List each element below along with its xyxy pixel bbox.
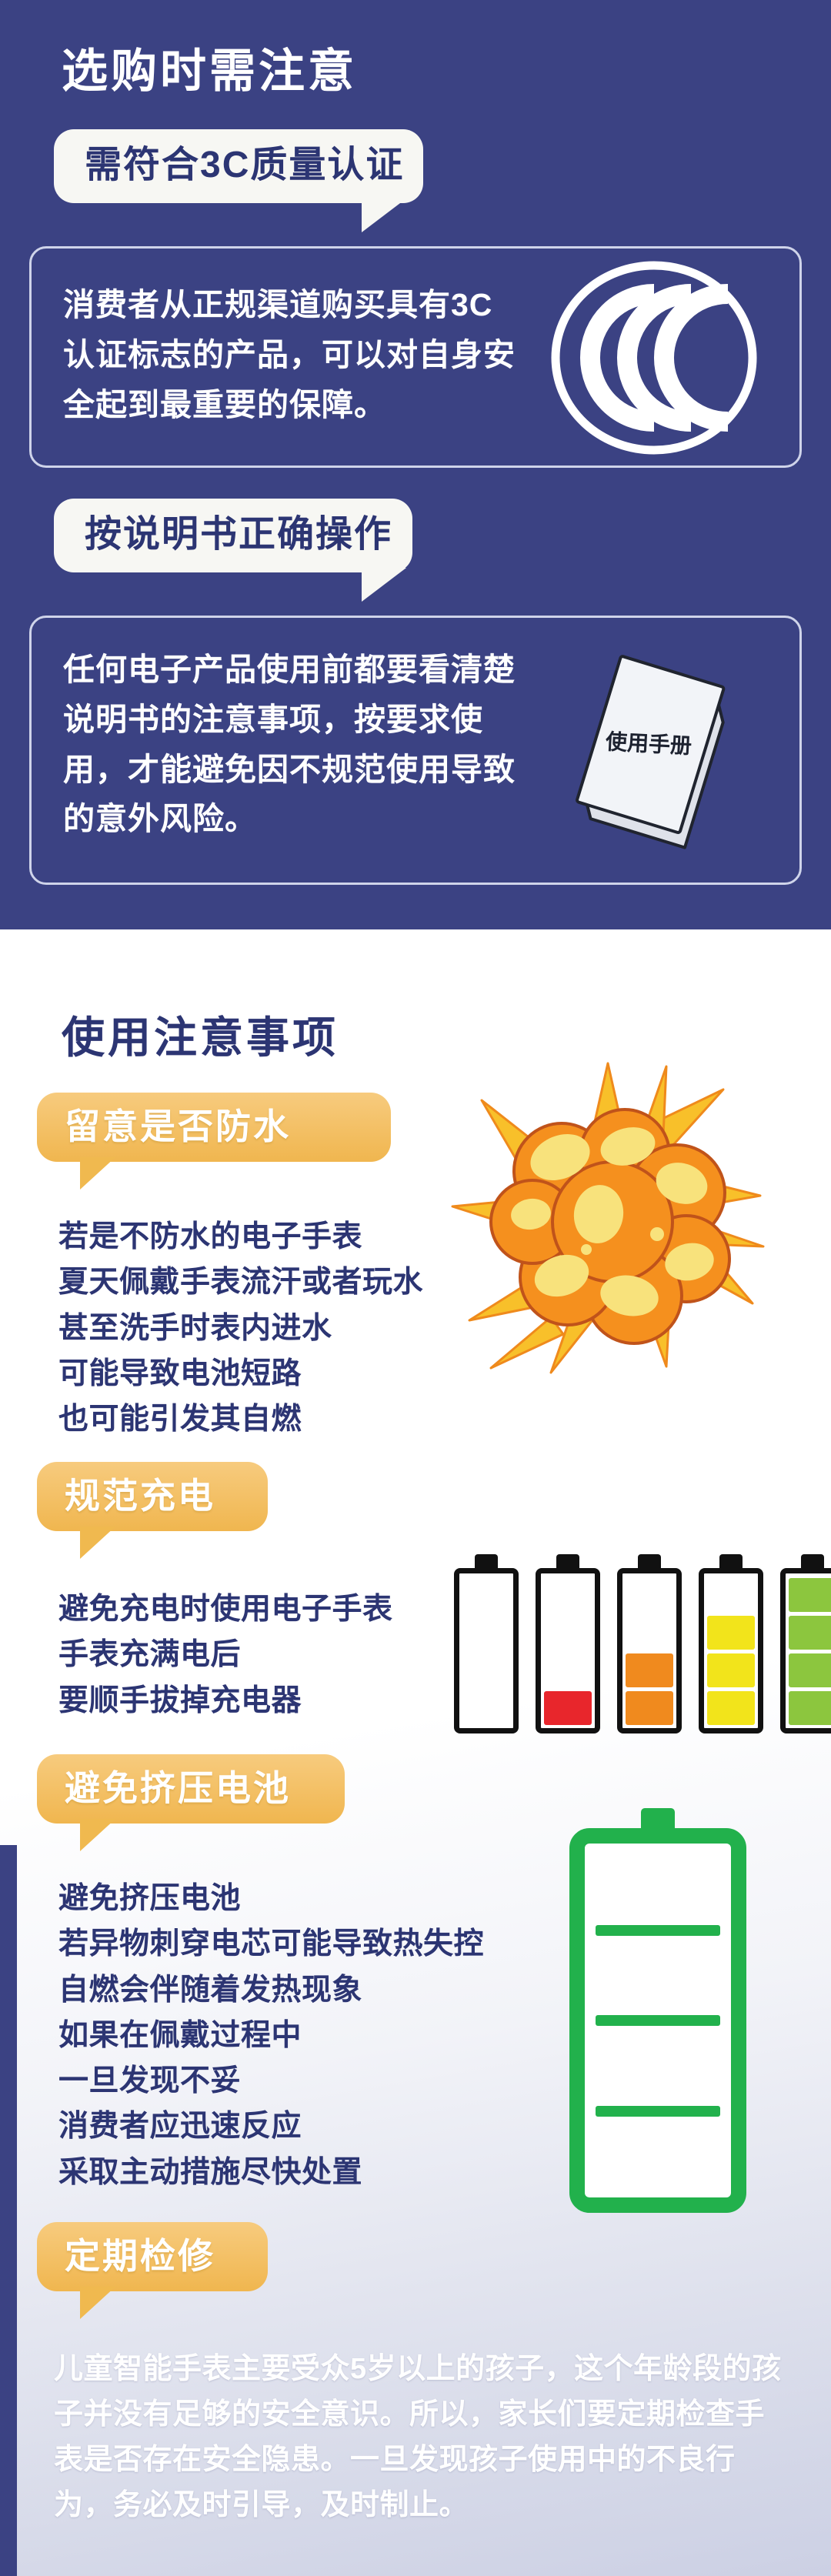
line: 若异物刺穿电芯可能导致热失控 [58,1921,597,1967]
battery-segment [707,1653,755,1687]
line: 自燃会伴随着发热现象 [58,1967,597,2013]
battery-shell [617,1568,682,1733]
line: 一旦发现不妥 [58,2058,597,2104]
battery-segment [789,1691,831,1725]
battery-cap [641,1808,675,1828]
bubble-waterproof-label: 留意是否防水 [65,1108,363,1145]
battery-shell [454,1568,519,1733]
periodic-inspection-body: 儿童智能手表主要受众5岁以上的孩子，这个年龄段的孩子并没有足够的安全意识。所以，… [54,2347,793,2528]
bubble-follow-manual: 按说明书正确操作 [54,499,412,572]
bubble-tail [80,2287,115,2319]
line: 避免挤压电池 [58,1876,597,1921]
bubble-tail [362,199,406,232]
battery-segment [789,1578,831,1612]
line: 可能导致电池短路 [58,1351,489,1396]
manual-cover-label: 使用手册 [604,729,692,758]
charging-body: 避免充电时使用电子手表 手表充满电后 要顺手拔掉充电器 [58,1587,489,1723]
large-battery-icon [569,1808,746,2213]
battery-divider [596,1925,720,1936]
battery-cap [475,1554,498,1568]
battery-empty [454,1554,519,1733]
battery-segment [626,1653,673,1687]
bubble-proper-charging: 规范充电 [37,1462,268,1531]
battery-segment [789,1616,831,1650]
battery-segment [789,1653,831,1687]
bubble-tail [80,1819,115,1851]
battery-shell [569,1828,746,2213]
user-manual-booklet: 使用手册 [546,639,769,873]
infographic-page: 选购时需注意 需符合3C质量认证 消费者从正规渠道购买具有3C认证标志的产品，可… [0,0,831,2576]
bubble-avoid-crushing-label: 避免挤压电池 [65,1770,317,1807]
battery-divider [596,2106,720,2117]
battery-divider [596,2015,720,2026]
battery-low [536,1554,600,1733]
battery-segment [707,1691,755,1725]
battery-medium-high [699,1554,763,1733]
buying-section-title: 选购时需注意 [62,46,357,97]
bubble-3c-certification: 需符合3C质量认证 [54,129,423,203]
bubble-tail [362,568,406,602]
bubble-periodic-inspection-label: 定期检修 [65,2237,240,2274]
bubble-3c-label: 需符合3C质量认证 [85,146,392,185]
avoid-crushing-body: 避免挤压电池 若异物刺穿电芯可能导致热失控 自燃会伴随着发热现象 如果在佩戴过程… [58,1876,597,2195]
explosion-icon [446,1056,769,1383]
line: 消费者应迅速反应 [58,2104,597,2149]
battery-shell [780,1568,831,1733]
buying-section: 选购时需注意 需符合3C质量认证 消费者从正规渠道购买具有3C认证标志的产品，可… [0,0,831,929]
bubble-tail [80,1527,115,1559]
usage-section-title: 使用注意事项 [62,1014,339,1062]
battery-shell [536,1568,600,1733]
battery-cap [556,1554,579,1568]
battery-cap [801,1554,824,1568]
line: 避免充电时使用电子手表 [58,1587,489,1632]
line: 也可能引发其自燃 [58,1396,489,1442]
battery-cell [596,2035,720,2097]
bubble-avoid-crushing: 避免挤压电池 [37,1754,345,1824]
battery-medium-low [617,1554,682,1733]
bubble-waterproof: 留意是否防水 [37,1093,391,1162]
bubble-tail [80,1157,115,1190]
line: 采取主动措施尽快处置 [58,2150,597,2195]
line: 手表充满电后 [58,1632,489,1677]
line: 若是不防水的电子手表 [58,1214,489,1260]
left-accent-rail [0,1845,17,2576]
battery-levels-icon [454,1554,831,1733]
card-3c-body: 消费者从正规渠道购买具有3C认证标志的产品，可以对自身安全起到最重要的保障。 [63,280,525,429]
card-manual-body: 任何电子产品使用前都要看清楚说明书的注意事项，按要求使用，才能避免因不规范使用导… [63,645,532,844]
battery-cap [638,1554,661,1568]
line: 要顺手拔掉充电器 [58,1678,489,1723]
bubble-proper-charging-label: 规范充电 [65,1477,240,1514]
battery-cell [596,1854,720,1916]
battery-cell [596,2126,720,2187]
waterproof-body: 若是不防水的电子手表 夏天佩戴手表流汗或者玩水 甚至洗手时表内进水 可能导致电池… [58,1214,489,1442]
battery-full [780,1554,831,1733]
battery-cell [596,1945,720,2007]
line: 夏天佩戴手表流汗或者玩水 [58,1260,489,1305]
battery-cap [719,1554,743,1568]
battery-shell [699,1568,763,1733]
bubble-follow-manual-label: 按说明书正确操作 [85,516,382,554]
battery-segment [626,1691,673,1725]
battery-segment [544,1691,592,1725]
bubble-periodic-inspection: 定期检修 [37,2222,268,2291]
ccc-certification-logo [539,254,769,465]
line: 甚至洗手时表内进水 [58,1306,489,1351]
battery-segment [707,1616,755,1650]
line: 如果在佩戴过程中 [58,2013,597,2058]
